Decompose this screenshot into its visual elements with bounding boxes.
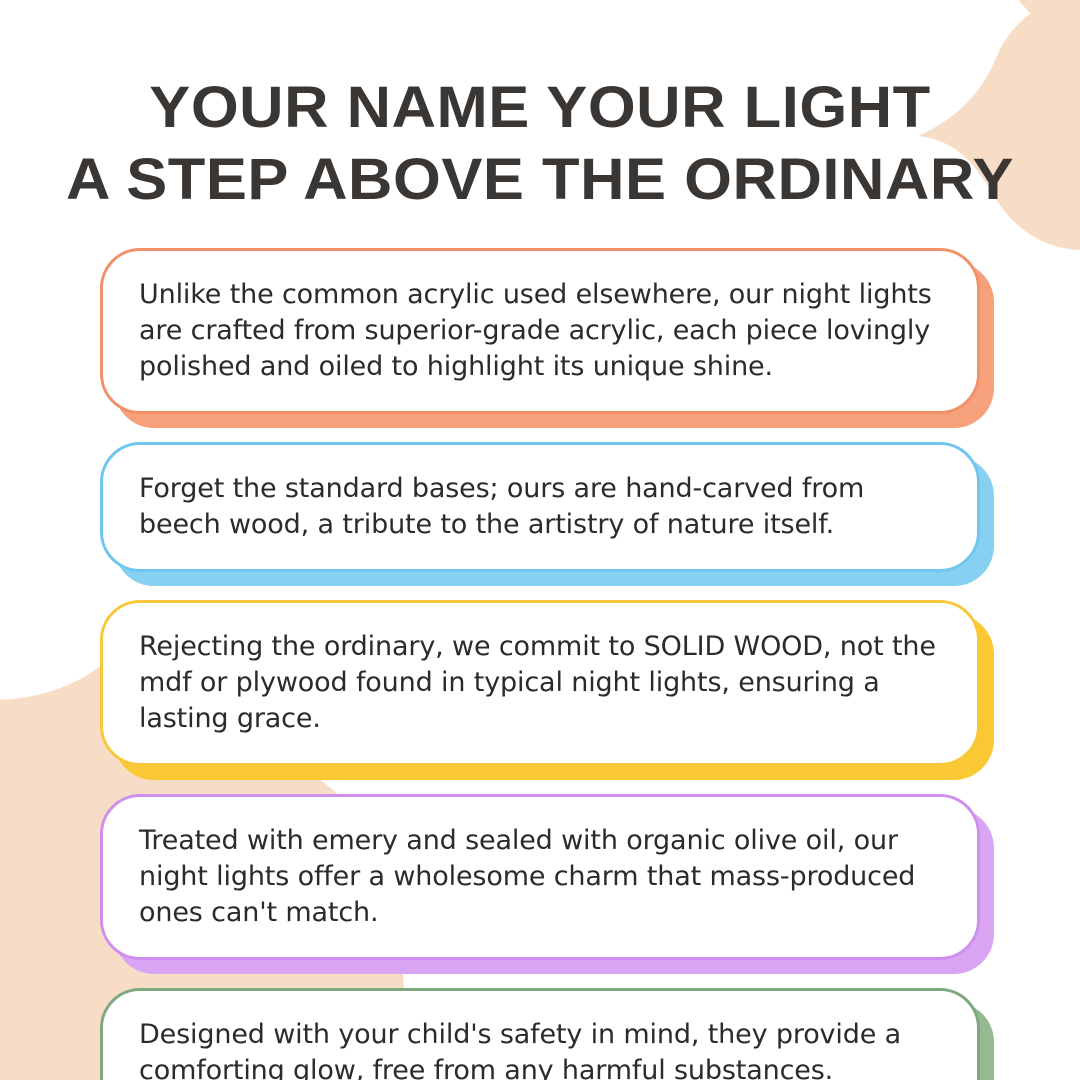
page-title-line-2: A STEP ABOVE THE ORDINARY [0, 144, 1080, 216]
card-body: Rejecting the ordinary, we commit to SOL… [100, 600, 980, 766]
feature-card: Forget the standard bases; ours are hand… [100, 442, 980, 572]
feature-card: Treated with emery and sealed with organ… [100, 794, 980, 960]
card-text: Unlike the common acrylic used elsewhere… [139, 277, 937, 385]
feature-card: Rejecting the ordinary, we commit to SOL… [100, 600, 980, 766]
feature-card: Designed with your child's safety in min… [100, 988, 980, 1080]
feature-card-list: Unlike the common acrylic used elsewhere… [0, 248, 1080, 1080]
card-body: Designed with your child's safety in min… [100, 988, 980, 1080]
card-body: Forget the standard bases; ours are hand… [100, 442, 980, 572]
page-title: YOUR NAME YOUR LIGHT A STEP ABOVE THE OR… [0, 72, 1080, 216]
page-title-line-1: YOUR NAME YOUR LIGHT [0, 72, 1080, 144]
feature-card: Unlike the common acrylic used elsewhere… [100, 248, 980, 414]
card-text: Treated with emery and sealed with organ… [139, 823, 937, 931]
card-text: Designed with your child's safety in min… [139, 1017, 937, 1080]
poster-canvas: YOUR NAME YOUR LIGHT A STEP ABOVE THE OR… [0, 0, 1080, 1080]
card-text: Rejecting the ordinary, we commit to SOL… [139, 629, 937, 737]
card-body: Treated with emery and sealed with organ… [100, 794, 980, 960]
card-body: Unlike the common acrylic used elsewhere… [100, 248, 980, 414]
top-right-star-blob-icon-2 [1014, 0, 1080, 60]
card-text: Forget the standard bases; ours are hand… [139, 471, 937, 543]
